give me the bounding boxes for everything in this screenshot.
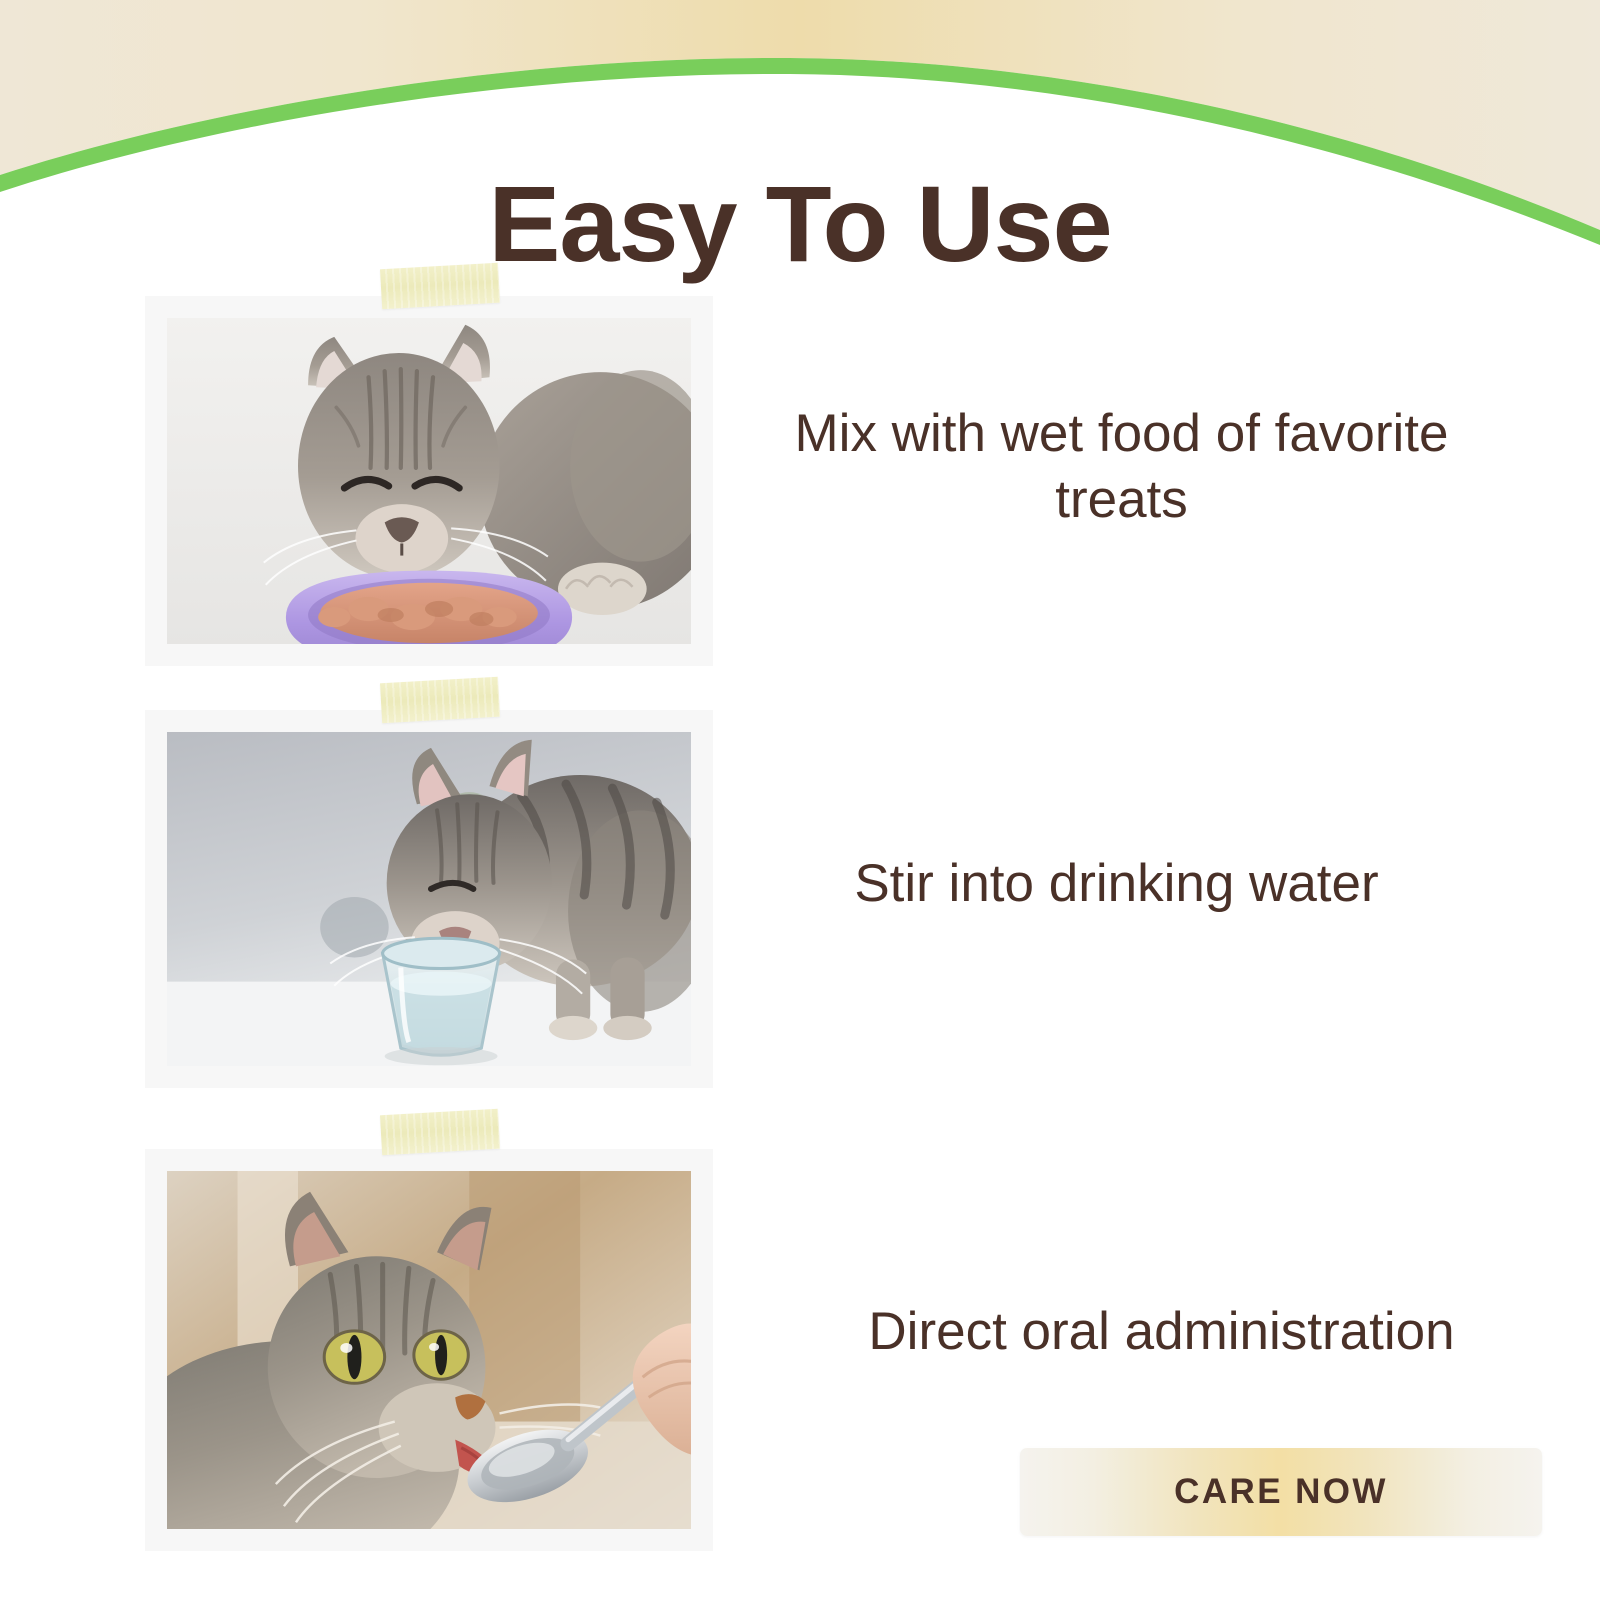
photo-card-wrapper-3 <box>145 1114 713 1551</box>
photo-card-wrapper-2 <box>145 682 713 1088</box>
photo-cat-drinking-water-from-glass-bowl <box>167 732 691 1066</box>
tape-strip-icon-3 <box>380 1109 500 1156</box>
photo-cat-eating-wet-food-from-purple-bowl <box>167 318 691 644</box>
photo-card-3[interactable] <box>145 1149 713 1551</box>
photo-card-1[interactable] <box>145 296 713 666</box>
photo-card-2[interactable] <box>145 710 713 1088</box>
step-caption-1: Mix with wet food of favorite treats <box>713 401 1600 534</box>
photo-card-wrapper-1 <box>145 268 713 666</box>
photo-artwork-2 <box>167 732 691 1066</box>
step-row-2: Stir into drinking water <box>0 672 1600 1097</box>
care-now-button[interactable]: CARE NOW <box>1020 1448 1542 1536</box>
photo-artwork-3 <box>167 1171 691 1529</box>
step-caption-3: Direct oral administration <box>713 1299 1600 1365</box>
photo-cat-licking-from-spoon <box>167 1171 691 1529</box>
step-row-1: Mix with wet food of favorite treats <box>0 262 1600 672</box>
tape-strip-icon-2 <box>380 676 500 723</box>
photo-artwork-1 <box>167 318 691 644</box>
step-caption-2: Stir into drinking water <box>713 851 1600 917</box>
tape-strip-icon-1 <box>380 263 500 310</box>
